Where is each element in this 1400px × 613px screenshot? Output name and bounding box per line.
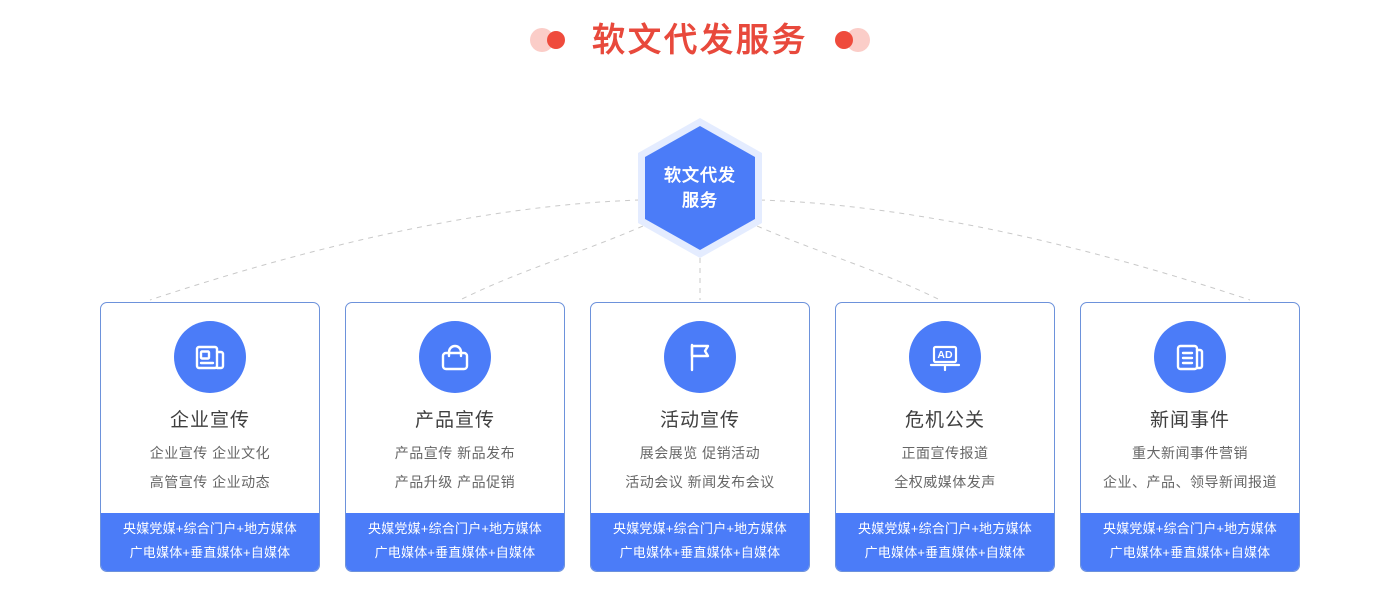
ad-billboard-icon: AD: [925, 337, 965, 377]
card-subtitle-line2: 产品升级 产品促销: [395, 473, 515, 491]
hub-hexagon: 软文代发 服务: [638, 118, 762, 258]
connector-to-card-4: [748, 222, 940, 300]
card-footer-line1: 央媒党媒+综合门户+地方媒体: [368, 520, 542, 538]
card-icon-circle: [419, 321, 491, 393]
card-footer-line1: 央媒党媒+综合门户+地方媒体: [1103, 520, 1277, 538]
service-card[interactable]: 新闻事件 重大新闻事件营销 企业、产品、领导新闻报道 央媒党媒+综合门户+地方媒…: [1080, 302, 1300, 572]
card-icon-circle: [1154, 321, 1226, 393]
documents-icon: [1170, 337, 1210, 377]
flag-icon: [680, 337, 720, 377]
service-card[interactable]: 产品宣传 产品宣传 新品发布 产品升级 产品促销 央媒党媒+综合门户+地方媒体 …: [345, 302, 565, 572]
shopping-bag-icon: [435, 337, 475, 377]
card-icon-circle: AD: [909, 321, 981, 393]
card-footer-line2: 广电媒体+垂直媒体+自媒体: [130, 544, 291, 562]
svg-text:AD: AD: [937, 349, 953, 361]
service-card[interactable]: 企业宣传 企业宣传 企业文化 高管宣传 企业动态 央媒党媒+综合门户+地方媒体 …: [100, 302, 320, 572]
card-subtitle-line1: 企业宣传 企业文化: [150, 444, 270, 462]
card-subtitle-line2: 活动会议 新闻发布会议: [625, 473, 774, 491]
service-card-list: 企业宣传 企业宣传 企业文化 高管宣传 企业动态 央媒党媒+综合门户+地方媒体 …: [100, 302, 1308, 572]
card-icon-circle: [174, 321, 246, 393]
card-icon-circle: [664, 321, 736, 393]
card-title: 危机公关: [905, 409, 985, 433]
connector-to-card-2: [460, 222, 652, 300]
card-subtitle-line2: 全权威媒体发声: [894, 473, 996, 491]
card-subtitle-line1: 重大新闻事件营销: [1132, 444, 1248, 462]
card-footer-line2: 广电媒体+垂直媒体+自媒体: [1110, 544, 1271, 562]
service-card[interactable]: 活动宣传 展会展览 促销活动 活动会议 新闻发布会议 央媒党媒+综合门户+地方媒…: [590, 302, 810, 572]
card-subtitle-line1: 产品宣传 新品发布: [395, 444, 515, 462]
card-subtitle-line2: 企业、产品、领导新闻报道: [1103, 473, 1277, 491]
card-footer-line2: 广电媒体+垂直媒体+自媒体: [375, 544, 536, 562]
card-footer-line1: 央媒党媒+综合门户+地方媒体: [858, 520, 1032, 538]
card-footer-line2: 广电媒体+垂直媒体+自媒体: [865, 544, 1026, 562]
page-title-text: 软文代发服务: [592, 14, 808, 66]
card-subtitle-line2: 高管宣传 企业动态: [150, 473, 270, 491]
card-subtitle-line1: 展会展览 促销活动: [640, 444, 760, 462]
card-title: 活动宣传: [660, 409, 740, 433]
newspaper-icon: [190, 337, 230, 377]
card-footer-line2: 广电媒体+垂直媒体+自媒体: [620, 544, 781, 562]
card-footer: 央媒党媒+综合门户+地方媒体 广电媒体+垂直媒体+自媒体: [101, 513, 319, 571]
card-footer-line1: 央媒党媒+综合门户+地方媒体: [123, 520, 297, 538]
card-title: 产品宣传: [415, 409, 495, 433]
dot-pair-icon-right: [830, 27, 870, 53]
card-footer: 央媒党媒+综合门户+地方媒体 广电媒体+垂直媒体+自媒体: [591, 513, 809, 571]
card-footer: 央媒党媒+综合门户+地方媒体 广电媒体+垂直媒体+自媒体: [346, 513, 564, 571]
page-title: 软文代发服务: [0, 14, 1400, 66]
dot-solid: [835, 31, 853, 49]
service-card[interactable]: AD 危机公关 正面宣传报道 全权威媒体发声 央媒党媒+综合门户+地方媒体 广电…: [835, 302, 1055, 572]
card-title: 新闻事件: [1150, 409, 1230, 433]
card-footer-line1: 央媒党媒+综合门户+地方媒体: [613, 520, 787, 538]
card-subtitle-line1: 正面宣传报道: [902, 444, 989, 462]
hub-label-line2: 服务: [682, 188, 718, 213]
card-footer: 央媒党媒+综合门户+地方媒体 广电媒体+垂直媒体+自媒体: [1081, 513, 1299, 571]
card-title: 企业宣传: [170, 409, 250, 433]
card-footer: 央媒党媒+综合门户+地方媒体 广电媒体+垂直媒体+自媒体: [836, 513, 1054, 571]
hub-label-line1: 软文代发: [664, 163, 736, 188]
dot-solid: [547, 31, 565, 49]
connector-to-card-1: [150, 200, 640, 300]
dot-pair-icon-left: [530, 27, 570, 53]
connector-to-card-5: [760, 200, 1250, 300]
